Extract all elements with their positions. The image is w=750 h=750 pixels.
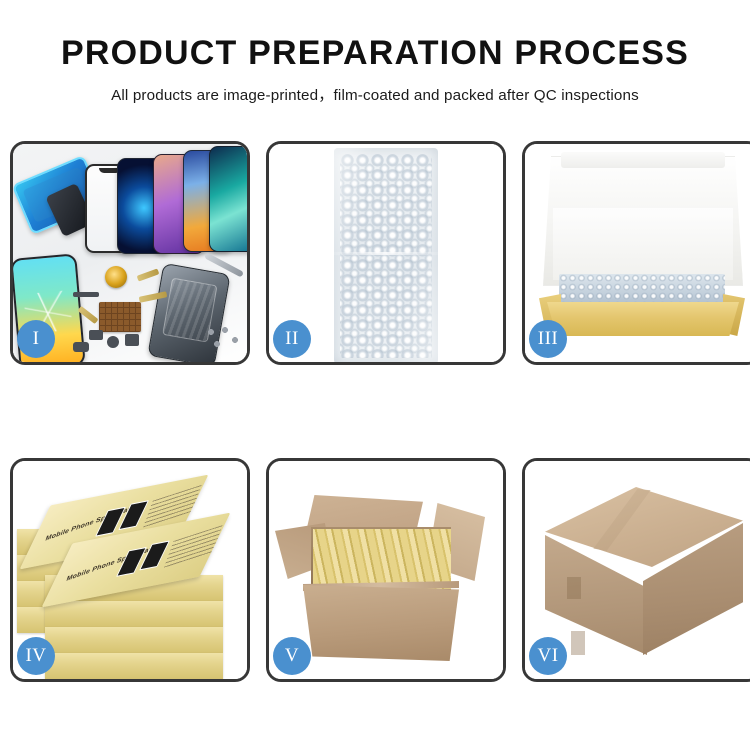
- stacked-box-front-4: [45, 653, 223, 679]
- page-header: PRODUCT PREPARATION PROCESS All products…: [0, 0, 750, 105]
- carton-yellow-boxes: [313, 529, 451, 589]
- stacked-box-front-2: [45, 601, 223, 627]
- inner-box-front-panel: [547, 302, 739, 336]
- step-panel-6: VI: [522, 458, 750, 682]
- inner-box-lid-fold: [561, 152, 725, 168]
- inner-box-white-liner: [553, 208, 733, 280]
- step-panel-5: V: [266, 458, 506, 682]
- step-badge-5: V: [273, 637, 311, 675]
- page-title: PRODUCT PREPARATION PROCESS: [0, 0, 750, 72]
- screws-group: [205, 326, 241, 352]
- ic-chip-grid: [99, 302, 141, 332]
- small-part-strip: [73, 292, 99, 297]
- step-panel-3: III: [522, 141, 750, 365]
- flex-cable-top: [137, 268, 160, 281]
- step-badge-1: I: [17, 320, 55, 358]
- step-badge-3: III: [529, 320, 567, 358]
- step-badge-2: II: [273, 320, 311, 358]
- step-panel-1: I: [10, 141, 250, 365]
- small-part-block: [89, 330, 103, 340]
- step-panel-4: Mobile Phone Spare Parts Mobile Phone Sp…: [10, 458, 250, 682]
- carton-body: [303, 585, 459, 661]
- wrap-sheen: [334, 148, 438, 362]
- page-subtitle: All products are image-printed，film-coat…: [0, 72, 750, 105]
- step-panel-2: II: [266, 141, 506, 365]
- inner-box-bubble-contents: [559, 274, 725, 306]
- process-steps-grid: I II: [10, 141, 740, 682]
- small-part-tray: [73, 342, 89, 352]
- product-preparation-page: PRODUCT PREPARATION PROCESS All products…: [0, 0, 750, 750]
- bubble-wrap-sleeve: [334, 148, 438, 362]
- sealed-carton-seam-top: [567, 577, 581, 599]
- step-badge-6: VI: [529, 637, 567, 675]
- phone-screen-teal: [209, 146, 247, 252]
- vibration-motor-part: [105, 266, 127, 288]
- small-part-camera: [125, 334, 139, 346]
- stacked-box-front-3: [45, 627, 223, 653]
- sealed-carton-seam-bottom: [571, 631, 585, 655]
- small-part-round: [107, 336, 119, 348]
- step-badge-4: IV: [17, 637, 55, 675]
- box-spec-lines-front: [164, 525, 223, 569]
